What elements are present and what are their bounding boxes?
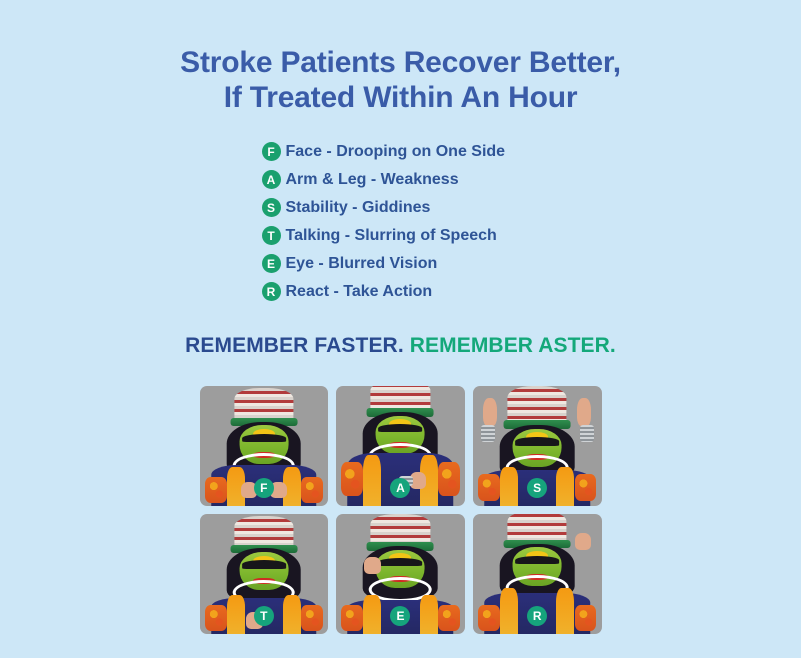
badge-letter-s: S	[262, 198, 281, 217]
symptom-label-react: React - Take Action	[286, 283, 433, 301]
badge-letter-f: F	[262, 142, 281, 161]
photo-grid: F A	[200, 386, 602, 634]
symptom-item-stability: S Stability - Giddines	[262, 194, 562, 222]
symptom-item-react: R React - Take Action	[262, 278, 562, 306]
symptom-label-stability: Stability - Giddines	[286, 199, 431, 217]
symptom-item-eye: E Eye - Blurred Vision	[262, 250, 562, 278]
badge-letter-e: E	[262, 254, 281, 273]
tagline-secondary: REMEMBER ASTER.	[410, 334, 616, 357]
symptom-item-talking: T Talking - Slurring of Speech	[262, 222, 562, 250]
symptom-label-eye: Eye - Blurred Vision	[286, 255, 438, 273]
badge-letter-a: A	[262, 170, 281, 189]
symptom-label-talking: Talking - Slurring of Speech	[286, 227, 497, 245]
badge-letter-r: R	[262, 282, 281, 301]
photo-cell-face: F	[200, 386, 329, 506]
photo-cell-talking: T	[200, 514, 329, 634]
photo-cell-eye: E	[336, 514, 465, 634]
photo-badge-a: A	[390, 478, 410, 498]
photo-cell-arm: A	[336, 386, 465, 506]
photo-badge-r: R	[527, 606, 547, 626]
tagline-primary: REMEMBER FASTER.	[185, 334, 404, 357]
photo-badge-t: T	[254, 606, 274, 626]
page-title: Stroke Patients Recover Better, If Treat…	[180, 46, 621, 116]
photo-badge-f: F	[254, 478, 274, 498]
symptom-label-arm: Arm & Leg - Weakness	[286, 171, 459, 189]
symptom-label-face: Face - Drooping on One Side	[286, 143, 506, 161]
faster-symptom-list: F Face - Drooping on One Side A Arm & Le…	[262, 138, 562, 306]
photo-cell-react: R	[473, 514, 602, 634]
symptom-item-face: F Face - Drooping on One Side	[262, 138, 562, 166]
tagline: REMEMBER FASTER.REMEMBER ASTER.	[185, 334, 616, 358]
stroke-awareness-poster: Stroke Patients Recover Better, If Treat…	[0, 0, 801, 658]
photo-badge-s: S	[527, 478, 547, 498]
title-line-2: If Treated Within An Hour	[180, 81, 621, 116]
symptom-item-arm: A Arm & Leg - Weakness	[262, 166, 562, 194]
badge-letter-t: T	[262, 226, 281, 245]
photo-badge-e: E	[390, 606, 410, 626]
photo-cell-stability: S	[473, 386, 602, 506]
title-line-1: Stroke Patients Recover Better,	[180, 46, 621, 81]
